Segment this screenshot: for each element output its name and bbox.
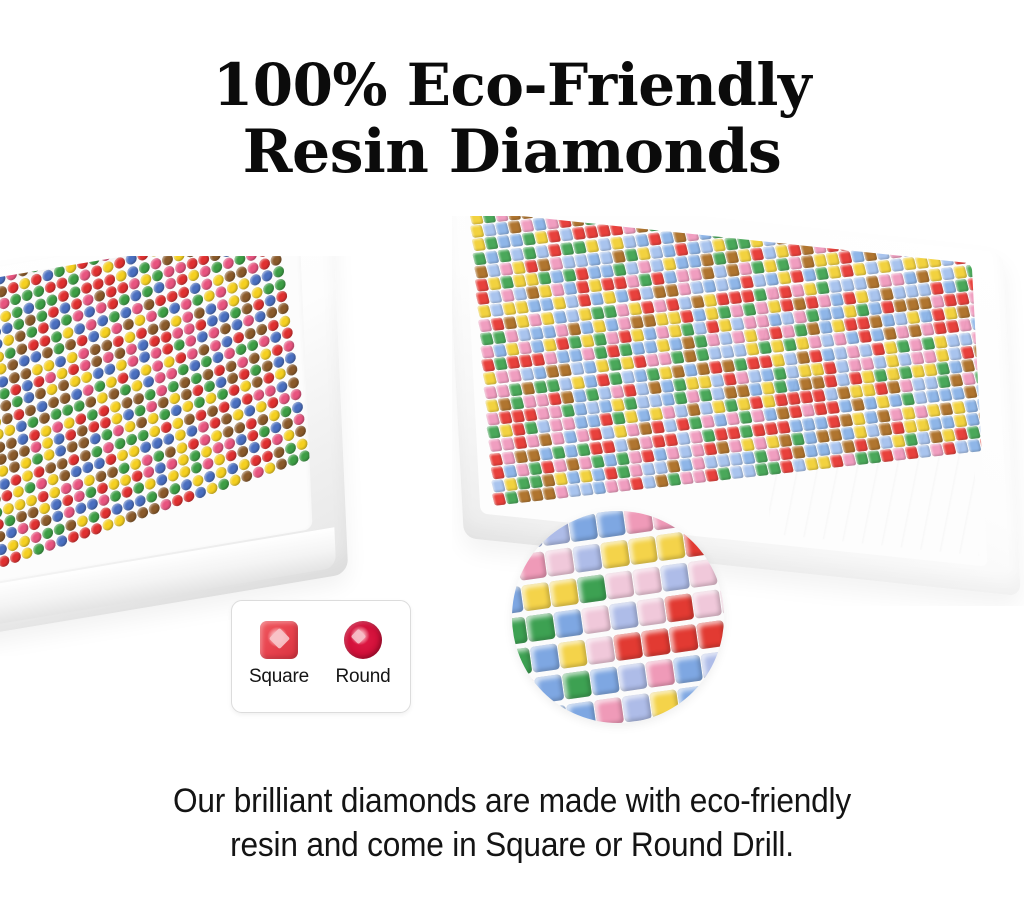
magnified-square-drill — [645, 658, 675, 688]
magnified-square-drill — [622, 693, 652, 723]
round-drill-tray — [0, 256, 374, 656]
magnified-square-drill — [534, 674, 564, 704]
square-drill — [645, 216, 660, 219]
magnified-square-drill — [545, 547, 575, 577]
round-drill — [217, 477, 230, 491]
square-drill — [951, 238, 966, 251]
square-drill — [671, 216, 686, 229]
magnified-square-drill — [549, 578, 579, 608]
magnified-square-drill — [705, 681, 724, 711]
headline-line-2: Resin Diamonds — [0, 118, 1024, 186]
round-gem-swatch — [332, 618, 394, 662]
square-drill — [836, 224, 851, 237]
square-drill — [697, 226, 712, 239]
magnified-square-drill — [641, 628, 671, 658]
square-drill — [558, 216, 573, 228]
square-drill — [722, 223, 737, 236]
round-drill — [38, 256, 51, 258]
square-drill — [848, 216, 863, 223]
magnified-square-drill — [692, 589, 722, 619]
round-drill — [194, 486, 207, 500]
magnified-square-drill — [512, 678, 537, 708]
square-drill — [949, 216, 964, 225]
magnified-square-drill — [677, 685, 707, 715]
square-drill — [912, 229, 927, 242]
square-drill — [760, 219, 775, 232]
square-drill — [850, 236, 865, 249]
round-drill — [32, 542, 45, 556]
square-drill — [823, 216, 838, 226]
square-drill — [926, 241, 941, 254]
magnified-square-drill — [521, 582, 551, 612]
square-drill — [925, 228, 940, 241]
square-drill — [970, 317, 985, 330]
round-drill — [113, 514, 126, 528]
round-drill — [136, 506, 149, 520]
magnified-square-drill — [577, 574, 607, 604]
magnified-square-drill — [572, 543, 602, 573]
square-drill — [876, 247, 891, 260]
round-drill — [159, 498, 172, 512]
legend-label-round: Round — [332, 666, 394, 688]
round-drill — [66, 530, 79, 544]
square-drill — [913, 243, 928, 256]
legend-item-round[interactable]: Round — [332, 618, 394, 688]
square-drill — [900, 231, 915, 244]
round-drill — [52, 256, 65, 266]
square-drill — [749, 234, 764, 247]
square-gem-swatch — [248, 618, 310, 662]
square-drill — [962, 224, 977, 237]
square-drill — [810, 216, 825, 227]
square-drill — [710, 225, 725, 238]
magnified-square-drill — [512, 511, 539, 519]
legend-label-square: Square — [248, 666, 310, 688]
round-drill — [78, 526, 91, 540]
square-drill — [873, 216, 888, 220]
square-drill — [899, 217, 914, 230]
square-drill — [659, 217, 674, 230]
square-drill — [874, 220, 889, 233]
round-drill — [90, 522, 103, 536]
square-drill — [811, 227, 826, 240]
round-drill — [182, 490, 195, 504]
square-drill — [849, 223, 864, 236]
magnified-square-drill — [564, 511, 594, 512]
magnified-square-drill — [590, 666, 620, 696]
square-drill — [658, 216, 673, 217]
magnified-square-drill — [512, 709, 541, 723]
round-drill — [286, 453, 299, 467]
square-drill — [971, 331, 986, 344]
round-drill — [298, 449, 311, 463]
magnified-square-drill — [538, 705, 568, 723]
square-drill — [609, 223, 624, 236]
drill-shape-legend: Square Round — [231, 600, 411, 713]
square-drill — [968, 291, 983, 304]
square-drill — [735, 222, 750, 235]
magnified-square-drill — [562, 670, 592, 700]
square-drill — [771, 216, 786, 218]
magnified-square-drill — [540, 517, 570, 547]
square-drill — [887, 232, 902, 245]
square-drill — [927, 255, 942, 268]
tray-body — [0, 256, 348, 646]
square-drill — [875, 233, 890, 246]
product-description: Our brilliant diamonds are made with eco… — [36, 779, 988, 867]
square-drill — [709, 216, 724, 225]
square-drill — [696, 216, 711, 226]
square-drill — [977, 398, 988, 411]
square-drill — [621, 221, 636, 234]
square-drill — [973, 357, 987, 370]
square-drill — [938, 240, 953, 253]
square-drill — [885, 216, 900, 219]
magnified-square-drill — [623, 511, 653, 534]
magnified-square-drill — [707, 511, 724, 523]
magnified-square-drill — [566, 701, 596, 723]
square-drill — [824, 226, 839, 239]
square-drill — [734, 216, 749, 222]
magnified-square-drill — [681, 716, 711, 723]
square-drill — [860, 216, 875, 221]
round-drill — [263, 461, 276, 475]
square-drill — [898, 216, 913, 217]
magnified-square-drill — [651, 511, 681, 531]
legend-items: Square Round — [232, 601, 410, 688]
magnified-square-drill — [709, 712, 724, 723]
square-drill — [936, 216, 951, 226]
square-drill — [646, 219, 661, 232]
magnified-square-drill — [613, 632, 643, 662]
square-drill — [812, 240, 827, 253]
headline-line-1: 100% Eco-Friendly — [0, 52, 1024, 118]
square-drill — [684, 216, 699, 228]
magnified-square-drill — [664, 593, 694, 623]
square-drill — [837, 238, 852, 251]
square-drill — [825, 239, 840, 252]
magnifier-inset — [512, 511, 724, 723]
tray-grooves — [757, 281, 979, 556]
magnified-square-drill — [512, 521, 542, 551]
square-drill — [608, 216, 623, 223]
square-drill — [685, 228, 700, 241]
square-drill — [961, 216, 976, 224]
magnified-square-drill — [673, 655, 703, 685]
round-drill — [0, 554, 10, 568]
square-drill — [967, 277, 982, 290]
magnified-square-drill — [604, 570, 634, 600]
magnified-square-drill — [536, 511, 566, 515]
caption-line-2: resin and come in Square or Round Drill. — [36, 823, 988, 867]
product-graphic: 100% Eco-Friendly Resin Diamonds Square … — [0, 0, 1024, 923]
square-drill — [969, 304, 984, 317]
magnified-square-drill — [600, 540, 630, 570]
magnified-square-drill — [660, 562, 690, 592]
round-drill — [0, 260, 5, 274]
round-drill — [43, 538, 56, 552]
round-drill — [27, 256, 40, 262]
round-drill — [20, 546, 33, 560]
round-drill — [251, 465, 264, 479]
square-drill — [761, 233, 776, 246]
square-drill — [966, 264, 981, 277]
square-drill — [799, 228, 814, 241]
square-drill — [721, 216, 736, 224]
round-drill — [9, 550, 22, 564]
square-drill — [974, 371, 987, 384]
square-drill — [939, 253, 954, 266]
page-title: 100% Eco-Friendly Resin Diamonds — [0, 52, 1024, 187]
magnified-square-drill — [557, 639, 587, 669]
square-drill — [911, 216, 926, 229]
magnified-square-drill — [628, 536, 658, 566]
square-drill — [937, 226, 952, 239]
square-drill — [620, 216, 635, 221]
square-drill — [798, 216, 813, 228]
magnified-square-drill — [525, 613, 555, 643]
square-drill — [901, 244, 916, 257]
magnified-square-drill — [687, 559, 717, 589]
square-drill — [972, 344, 987, 357]
magnified-drill-rows — [512, 511, 724, 723]
legend-item-square[interactable]: Square — [248, 618, 310, 688]
square-drill — [633, 216, 648, 220]
round-drill — [55, 534, 68, 548]
square-drill — [800, 242, 815, 255]
square-drill — [786, 230, 801, 243]
round-drill — [240, 469, 253, 483]
round-drill — [75, 256, 88, 258]
round-drill — [170, 494, 183, 508]
square-drill — [774, 231, 789, 244]
square-drill — [886, 219, 901, 232]
round-drill — [4, 256, 17, 270]
square-drill — [785, 216, 800, 229]
round-drill — [275, 457, 288, 471]
round-drill — [205, 482, 218, 496]
magnified-square-drill — [530, 643, 560, 673]
square-drill — [835, 216, 850, 224]
magnified-square-drill — [596, 511, 626, 538]
square-drill — [863, 248, 878, 261]
square-drill — [672, 229, 687, 242]
square-gem-icon — [260, 621, 298, 659]
square-drill — [950, 225, 965, 238]
magnified-square-drill — [636, 597, 666, 627]
round-drill — [15, 256, 28, 266]
round-drill — [228, 473, 241, 487]
square-drill — [634, 220, 649, 233]
magnified-square-drill — [632, 566, 662, 596]
magnified-square-drill — [517, 551, 547, 581]
magnified-square-drill — [649, 689, 679, 719]
magnified-square-drill — [696, 620, 724, 650]
magnified-square-drill — [609, 601, 639, 631]
magnified-square-drill — [568, 513, 598, 543]
square-drill — [888, 245, 903, 258]
square-drill — [759, 216, 774, 219]
round-drill — [101, 518, 114, 532]
magnified-square-drill — [668, 624, 698, 654]
magnified-square-drill — [654, 720, 684, 723]
magnified-square-drill — [683, 528, 713, 558]
square-drill — [861, 221, 876, 234]
magnified-square-drill — [679, 511, 709, 527]
square-drill — [963, 237, 978, 250]
magnified-square-drill — [512, 647, 532, 677]
square-drill — [746, 216, 761, 221]
square-drill — [570, 216, 585, 227]
magnified-square-drill — [617, 662, 647, 692]
square-drill — [747, 221, 762, 234]
magnified-square-drill — [585, 636, 615, 666]
magnified-square-drill — [594, 697, 624, 723]
magnified-square-drill — [553, 609, 583, 639]
square-drill — [862, 235, 877, 248]
round-drill — [124, 510, 137, 524]
square-drill — [736, 235, 751, 248]
magnified-square-drill — [581, 605, 611, 635]
square-drill — [964, 250, 979, 263]
caption-line-1: Our brilliant diamonds are made with eco… — [36, 779, 988, 823]
square-drill — [952, 252, 967, 265]
square-drill — [545, 216, 560, 229]
magnified-square-drill — [700, 651, 724, 681]
round-gem-icon — [344, 621, 382, 659]
square-drill — [772, 218, 787, 231]
magnified-square-drill — [655, 532, 685, 562]
round-drill — [147, 502, 160, 516]
round-drill — [63, 256, 76, 262]
square-drill — [595, 216, 610, 224]
square-drill — [924, 216, 939, 228]
